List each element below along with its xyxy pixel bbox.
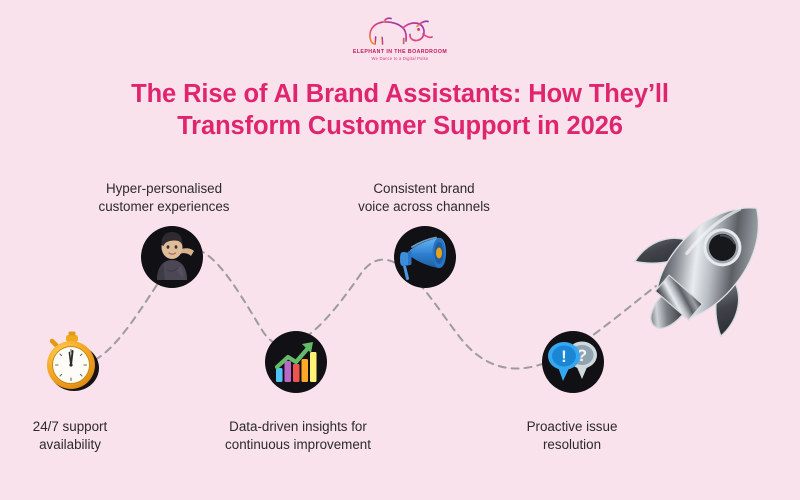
caption-line-1: Hyper-personalised xyxy=(82,180,246,198)
infographic-canvas: ELEPHANT IN THE BOARDROOM We Dance to a … xyxy=(0,0,800,500)
milestone-node-4 xyxy=(394,226,456,288)
megaphone-icon xyxy=(394,226,456,288)
milestone-caption-1: 24/7 support availability xyxy=(0,418,140,454)
milestone-caption-4: Consistent brand voice across channels xyxy=(338,180,510,216)
caption-line-1: Data-driven insights for xyxy=(208,418,388,436)
stopwatch-icon xyxy=(38,328,104,394)
caption-line-1: Consistent brand xyxy=(338,180,510,198)
milestone-node-3 xyxy=(265,331,327,393)
caption-line-2: customer experiences xyxy=(82,198,246,216)
bar-chart-growth-icon xyxy=(265,331,327,393)
milestone-caption-2: Hyper-personalised customer experiences xyxy=(82,180,246,216)
milestone-caption-5: Proactive issue resolution xyxy=(498,418,646,454)
support-agent-icon xyxy=(141,226,203,288)
milestone-node-1 xyxy=(38,328,104,394)
caption-line-2: resolution xyxy=(498,436,646,454)
caption-line-2: voice across channels xyxy=(338,198,510,216)
milestone-caption-3: Data-driven insights for continuous impr… xyxy=(208,418,388,454)
caption-line-1: Proactive issue xyxy=(498,418,646,436)
caption-line-2: availability xyxy=(0,436,140,454)
rocket-icon xyxy=(618,186,798,341)
svg-text:!: ! xyxy=(561,347,567,366)
speech-bubbles-icon: ? ! xyxy=(542,331,604,393)
caption-line-2: continuous improvement xyxy=(208,436,388,454)
caption-line-1: 24/7 support xyxy=(0,418,140,436)
milestone-node-2 xyxy=(141,226,203,288)
milestone-node-5: ? ! xyxy=(542,331,604,393)
